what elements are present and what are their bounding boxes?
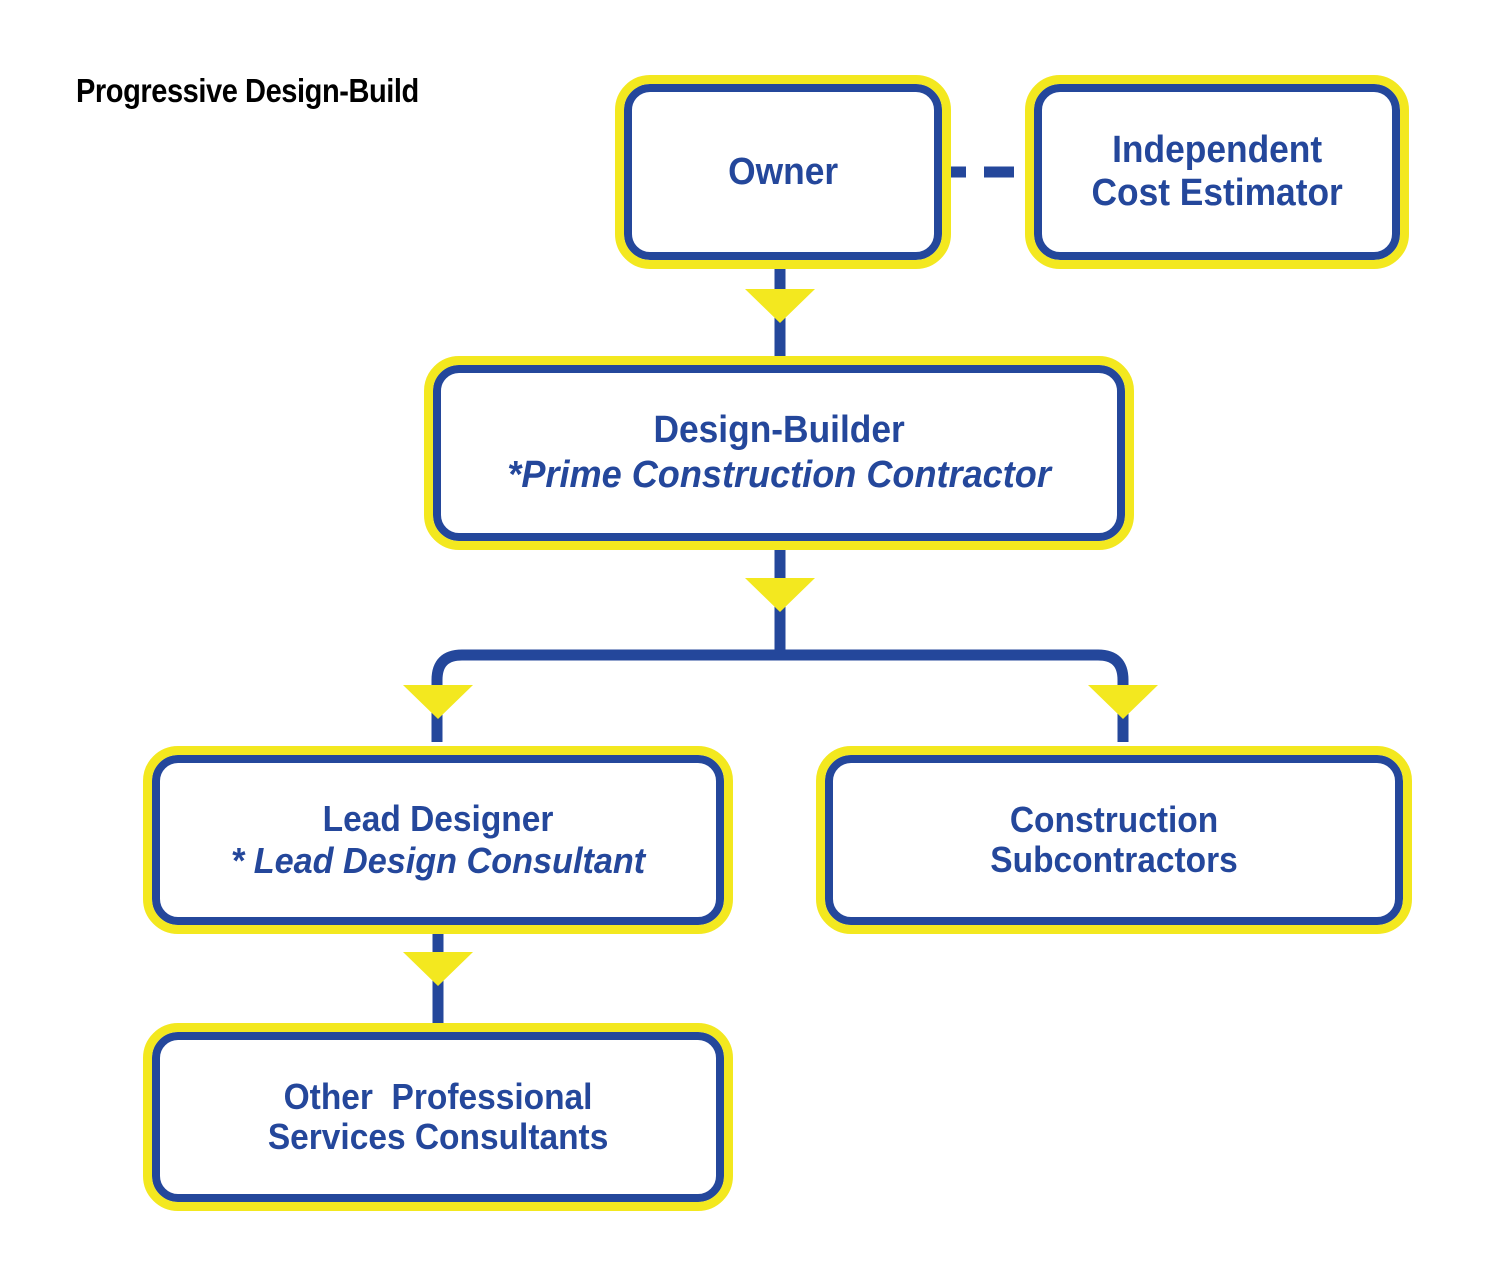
node-independent-cost-estimator-label: Independent Cost Estimator (1091, 129, 1342, 214)
node-independent-cost-estimator[interactable]: Independent Cost Estimator (1034, 84, 1400, 260)
node-construction-subcontractors[interactable]: Construction Subcontractors (825, 755, 1403, 925)
node-owner[interactable]: Owner (624, 84, 942, 260)
node-design-builder[interactable]: Design-Builder *Prime Construction Contr… (433, 365, 1125, 541)
node-lead-designer-label: Lead Designer (323, 799, 554, 839)
node-design-builder-sublabel: *Prime Construction Contractor (507, 454, 1051, 497)
node-other-professional-services-consultants-label: Other Professional Services Consultants (268, 1077, 609, 1158)
node-other-professional-services-consultants[interactable]: Other Professional Services Consultants (152, 1032, 724, 1202)
node-lead-designer-sublabel: * Lead Design Consultant (231, 841, 645, 881)
diagram-canvas: Progressive Design-Build Independent Cos… (0, 0, 1509, 1277)
node-design-builder-label: Design-Builder (653, 409, 904, 452)
node-owner-label: Owner (728, 151, 838, 194)
node-construction-subcontractors-label: Construction Subcontractors (990, 800, 1237, 881)
connector-branch-bus (437, 655, 1123, 742)
node-lead-designer[interactable]: Lead Designer * Lead Design Consultant (152, 755, 724, 925)
